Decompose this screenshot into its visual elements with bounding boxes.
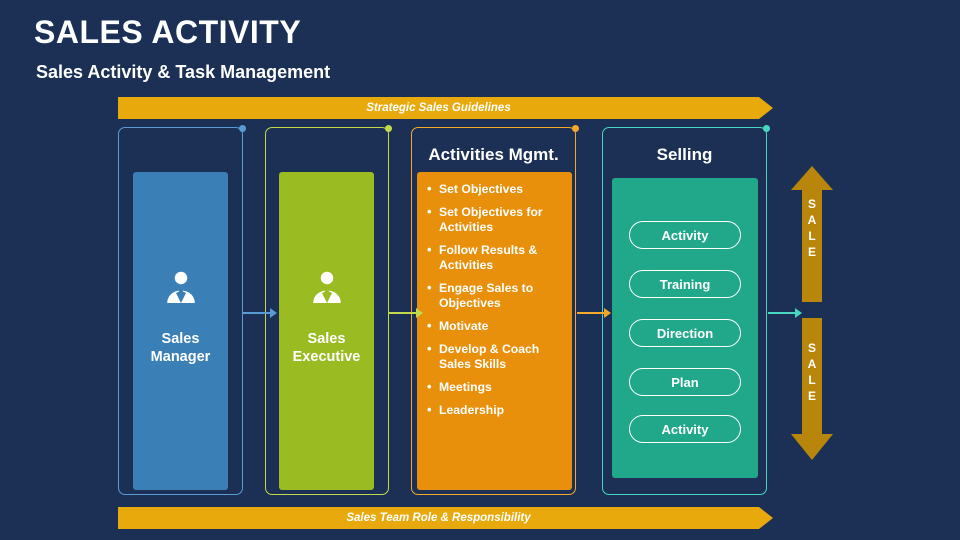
sale-letters-up: S A L E — [791, 196, 833, 260]
sale-letter: E — [791, 244, 833, 260]
caption-line-2: Manager — [133, 348, 228, 366]
frame-dot-icon — [385, 125, 392, 132]
card-sales-executive[interactable]: Sales Executive — [279, 172, 374, 490]
frame-dot-icon — [572, 125, 579, 132]
frame-dot-icon — [763, 125, 770, 132]
banner-bottom-label: Sales Team Role & Responsibility — [118, 512, 759, 524]
caption-line-1: Sales — [279, 330, 374, 348]
sale-letter: E — [791, 388, 833, 404]
arrow-head-icon — [416, 308, 423, 318]
card-sales-manager[interactable]: Sales Manager — [133, 172, 228, 490]
caption-line-1: Sales — [133, 330, 228, 348]
sale-letter: S — [791, 196, 833, 212]
connector-activities-to-selling — [577, 312, 605, 314]
connector-manager-to-executive — [243, 312, 271, 314]
frame-dot-icon — [239, 125, 246, 132]
list-item: Meetings — [425, 380, 565, 395]
connector-selling-to-sale — [768, 312, 796, 314]
banner-top-label: Strategic Sales Guidelines — [118, 102, 759, 114]
person-icon — [307, 268, 347, 308]
sale-letter: A — [791, 212, 833, 228]
sale-letter: L — [791, 228, 833, 244]
card-caption-sales-manager: Sales Manager — [133, 330, 228, 366]
sale-arrow-up: S A L E — [791, 166, 833, 302]
caption-line-2: Executive — [279, 348, 374, 366]
pill-plan[interactable]: Plan — [629, 368, 741, 396]
pill-training[interactable]: Training — [629, 270, 741, 298]
sale-arrow-down: S A L E — [791, 318, 833, 460]
banner-strategic-sales-guidelines: Strategic Sales Guidelines — [118, 97, 759, 119]
list-item: Motivate — [425, 319, 565, 334]
page-subtitle: Sales Activity & Task Management — [36, 62, 330, 83]
connector-executive-to-activities — [389, 312, 417, 314]
list-item: Develop & Coach Sales Skills — [425, 342, 565, 372]
pill-direction[interactable]: Direction — [629, 319, 741, 347]
arrow-head-icon — [270, 308, 277, 318]
list-item: Set Objectives for Activities — [425, 205, 565, 235]
banner-sales-team-role-responsibility: Sales Team Role & Responsibility — [118, 507, 759, 529]
bullet-list-activities: Set Objectives Set Objectives for Activi… — [425, 182, 565, 426]
card-caption-sales-executive: Sales Executive — [279, 330, 374, 366]
list-item: Engage Sales to Objectives — [425, 281, 565, 311]
sale-letter: L — [791, 372, 833, 388]
page-title: SALES ACTIVITY — [34, 14, 301, 51]
arrow-head-icon — [795, 308, 802, 318]
arrow-head-icon — [604, 308, 611, 318]
sale-letter: A — [791, 356, 833, 372]
list-item: Follow Results & Activities — [425, 243, 565, 273]
pill-activity-2[interactable]: Activity — [629, 415, 741, 443]
sale-letters-down: S A L E — [791, 340, 833, 404]
sale-letter: S — [791, 340, 833, 356]
list-item: Leadership — [425, 403, 565, 418]
list-item: Set Objectives — [425, 182, 565, 197]
arrow-head-icon — [759, 97, 773, 119]
pill-activity-1[interactable]: Activity — [629, 221, 741, 249]
heading-activities-mgmt: Activities Mgmt. — [411, 145, 576, 165]
slide-canvas: SALES ACTIVITY Sales Activity & Task Man… — [0, 0, 960, 540]
person-icon — [161, 268, 201, 308]
arrow-head-icon — [759, 507, 773, 529]
heading-selling: Selling — [602, 145, 767, 165]
